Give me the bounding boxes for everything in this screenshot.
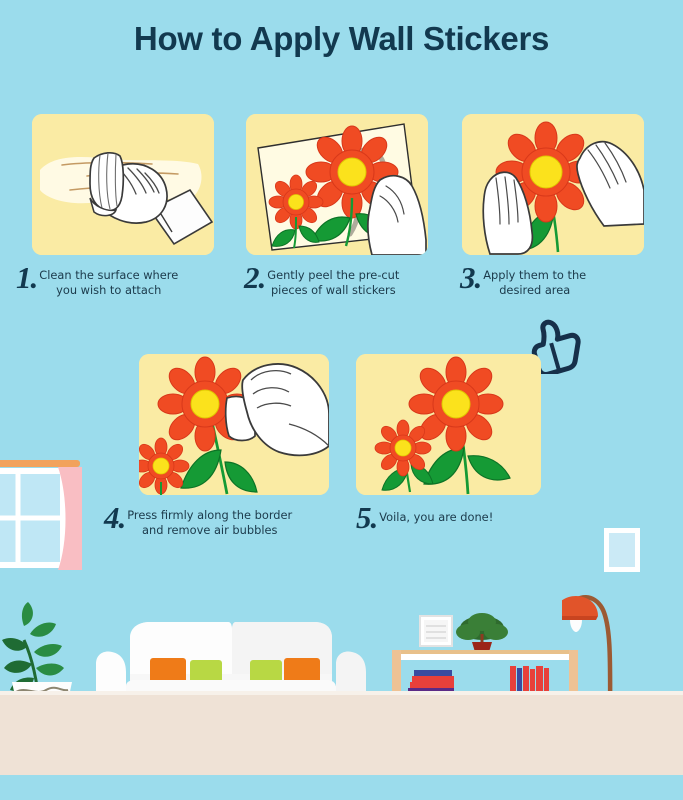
step-3-caption: 3. Apply them to the desired area: [460, 262, 660, 298]
step-1-number: 1.: [16, 262, 37, 293]
step-5-number: 5.: [356, 502, 377, 533]
step-2-caption: 2. Gently peel the pre-cut pieces of wal…: [244, 262, 456, 298]
step-4-illustration: [139, 354, 329, 495]
step-1-illustration: [32, 114, 214, 255]
step-4-caption: 4. Press firmly along the border and rem…: [104, 502, 354, 538]
wall-picture-frame: [604, 528, 640, 572]
step-1-caption: 1. Clean the surface where you wish to a…: [16, 262, 226, 298]
step-2-illustration: [246, 114, 428, 255]
page-title: How to Apply Wall Stickers: [0, 20, 683, 58]
step-3-illustration: [462, 114, 644, 255]
step-2-number: 2.: [244, 262, 265, 293]
step-3-number: 3.: [460, 262, 481, 293]
floor: [0, 695, 683, 775]
step-2-text: Gently peel the pre-cut pieces of wall s…: [267, 262, 399, 298]
step-4-number: 4.: [104, 502, 125, 533]
step-5-illustration: [356, 354, 541, 495]
step-4-text: Press firmly along the border and remove…: [127, 502, 292, 538]
step-5-text: Voila, you are done!: [379, 502, 493, 525]
step-1-text: Clean the surface where you wish to atta…: [39, 262, 178, 298]
infographic-canvas: How to Apply Wall Stickers: [0, 0, 683, 800]
step-5-caption: 5. Voila, you are done!: [356, 502, 576, 533]
window-with-curtain: [0, 452, 100, 572]
bottom-strip: [0, 775, 683, 800]
step-3-text: Apply them to the desired area: [483, 262, 586, 298]
